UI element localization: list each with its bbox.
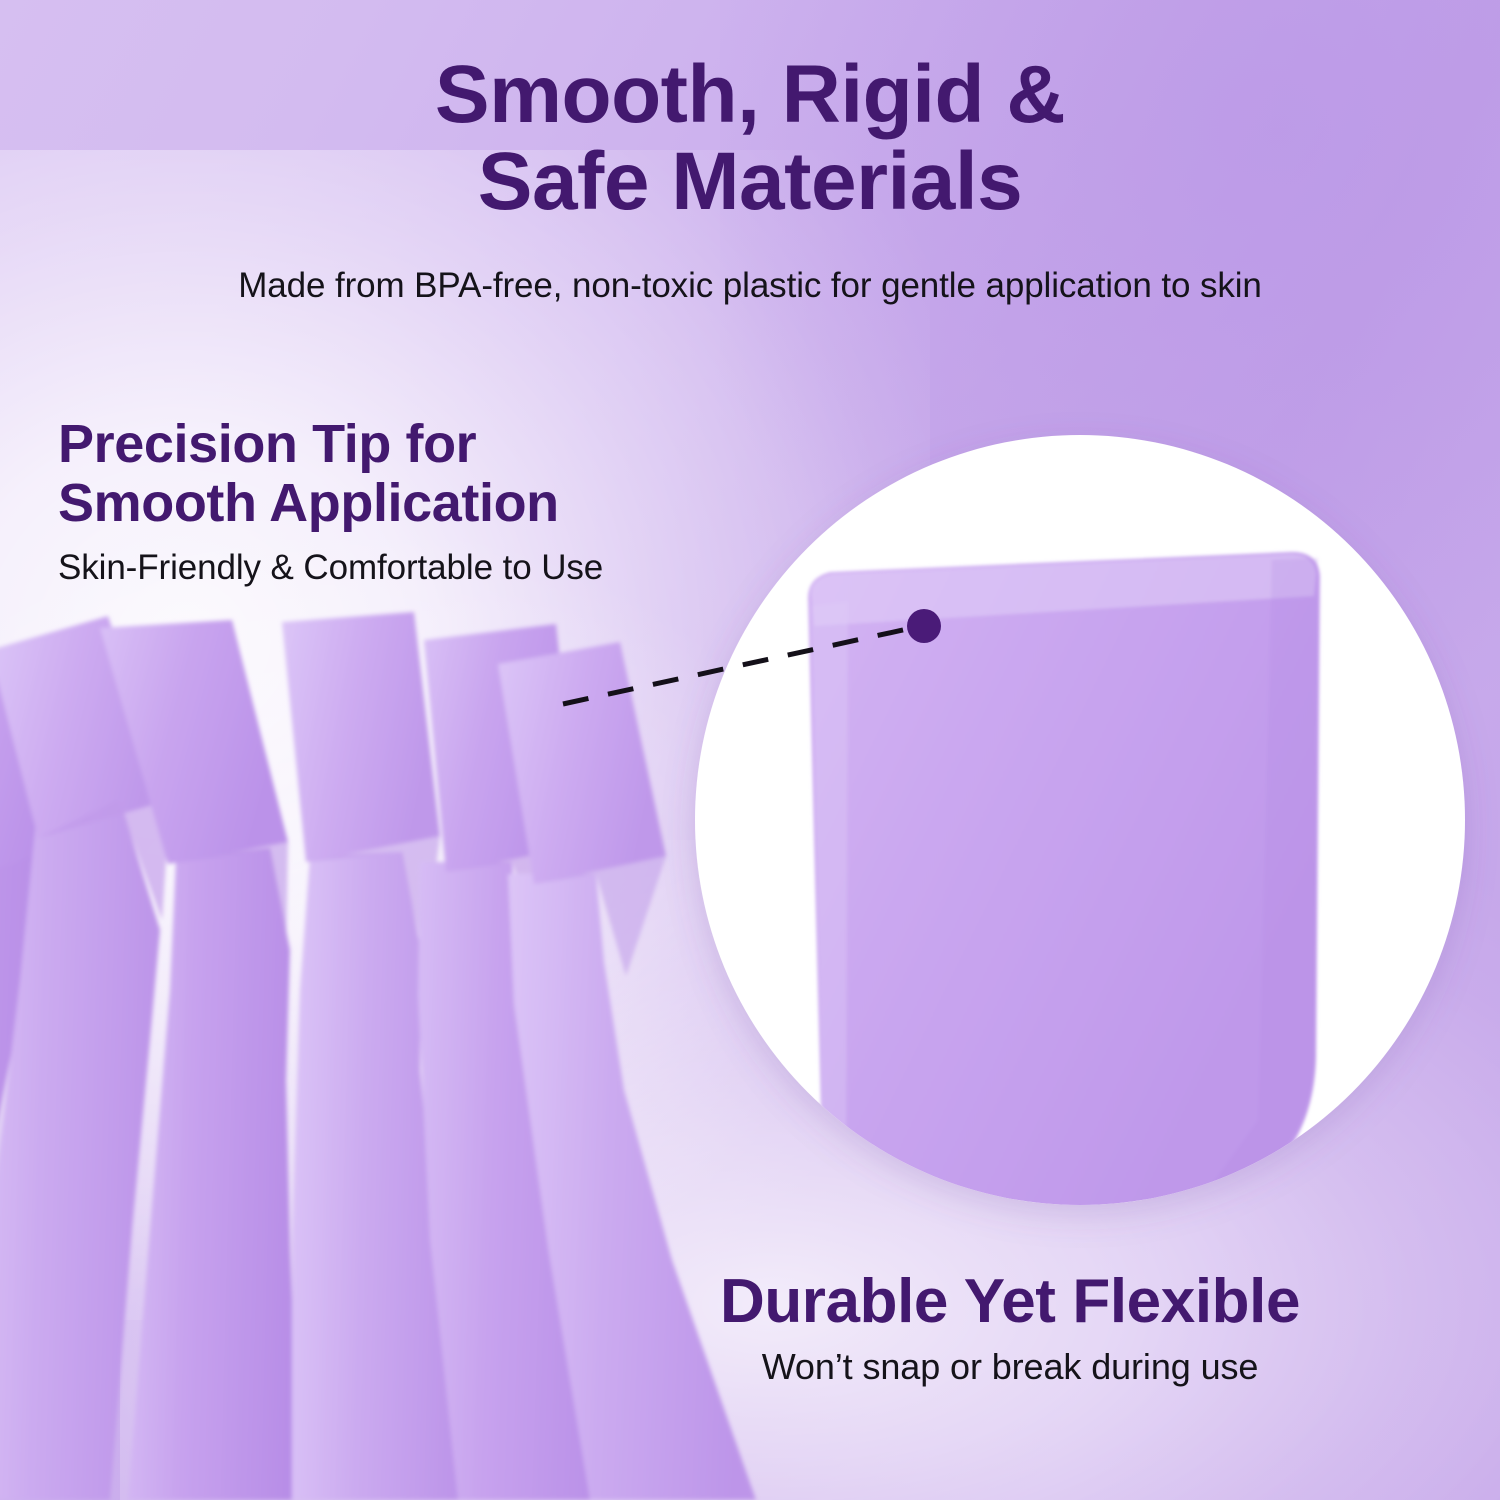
feature-bottom-title: Durable Yet Flexible [560,1266,1460,1337]
feature-bottom-subtitle: Won’t snap or break during use [560,1346,1460,1388]
hero-subtitle: Made from BPA-free, non-toxic plastic fo… [0,266,1500,306]
hero-title: Smooth, Rigid & Safe Materials [0,52,1500,226]
feature-left-title: Precision Tip for Smooth Application [58,415,778,534]
feature-left-subtitle: Skin-Friendly & Comfortable to Use [58,548,838,588]
product-infographic: Smooth, Rigid & Safe Materials Made from… [0,0,1500,1500]
callout-dot [907,609,941,643]
callout-dashed-line [563,628,912,704]
